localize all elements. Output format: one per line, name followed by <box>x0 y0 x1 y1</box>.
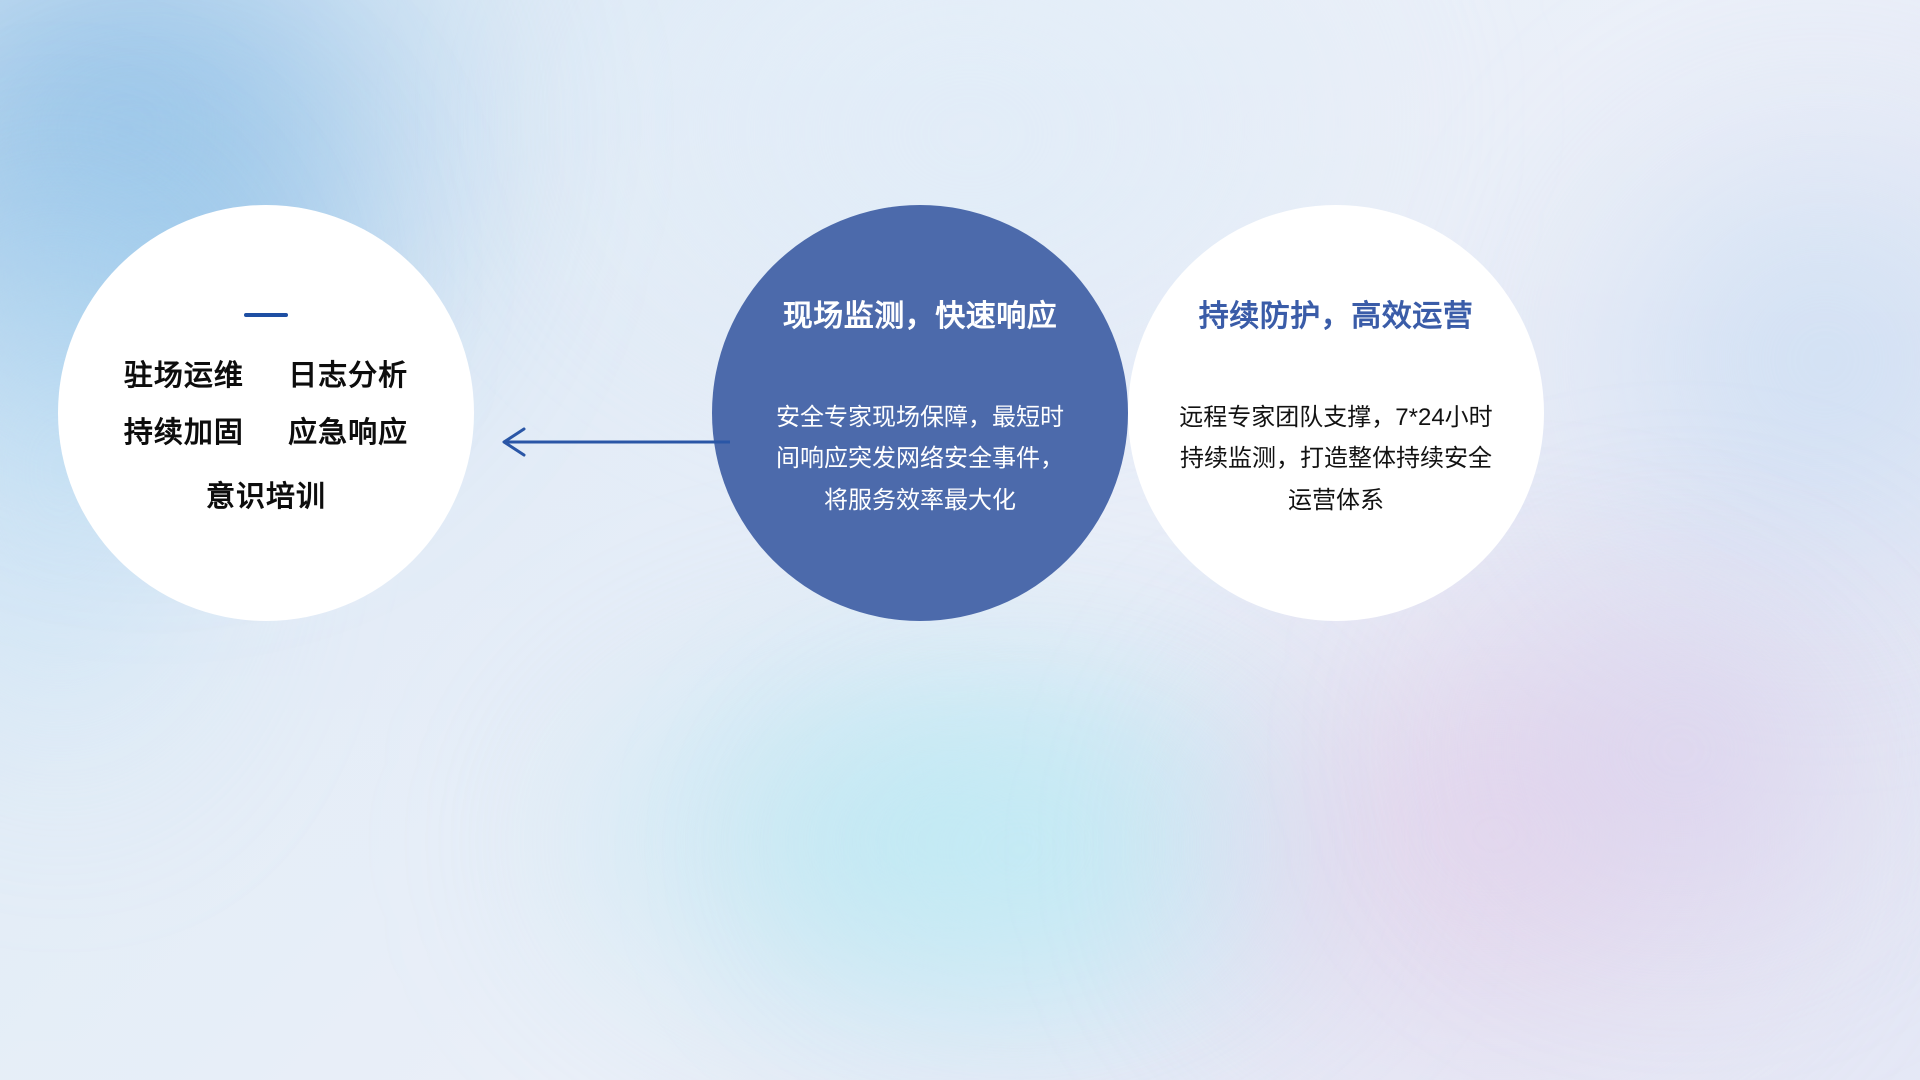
capability-item-log-analysis: 日志分析 <box>288 360 408 392</box>
middle-card-title: 现场监测，快速响应 <box>783 291 1058 335</box>
capability-item-onsite-ops: 驻场运维 <box>124 360 244 392</box>
capability-item-continuous-hardening: 持续加固 <box>124 417 244 449</box>
capability-circle-middle[interactable]: 现场监测，快速响应 安全专家现场保障，最短时间响应突发网络安全事件，将服务效率最… <box>712 205 1128 621</box>
right-card-title: 持续防护，高效运营 <box>1199 291 1474 335</box>
capability-row-1: 驻场运维 日志分析 <box>124 361 408 391</box>
capability-item-awareness-training: 意识培训 <box>206 481 326 513</box>
diagram-stage: 驻场运维 日志分析 持续加固 应急响应 意识培训 现场监测，快速响应 安全专家现… <box>0 0 1920 1080</box>
capability-circle-left[interactable]: 驻场运维 日志分析 持续加固 应急响应 意识培训 <box>58 205 474 621</box>
capability-row-3: 意识培训 <box>206 482 326 512</box>
middle-card-body: 安全专家现场保障，最短时间响应突发网络安全事件，将服务效率最大化 <box>770 397 1070 521</box>
capability-circle-right[interactable]: 持续防护，高效运营 远程专家团队支撑，7*24小时持续监测，打造整体持续安全运营… <box>1128 205 1544 621</box>
capability-item-emergency-response: 应急响应 <box>288 417 408 449</box>
capability-row-2: 持续加固 应急响应 <box>124 418 408 448</box>
right-card-body: 远程专家团队支撑，7*24小时持续监测，打造整体持续安全运营体系 <box>1169 397 1503 521</box>
flow-arrow-left-icon <box>480 412 730 472</box>
divider-dash-icon <box>244 313 288 317</box>
